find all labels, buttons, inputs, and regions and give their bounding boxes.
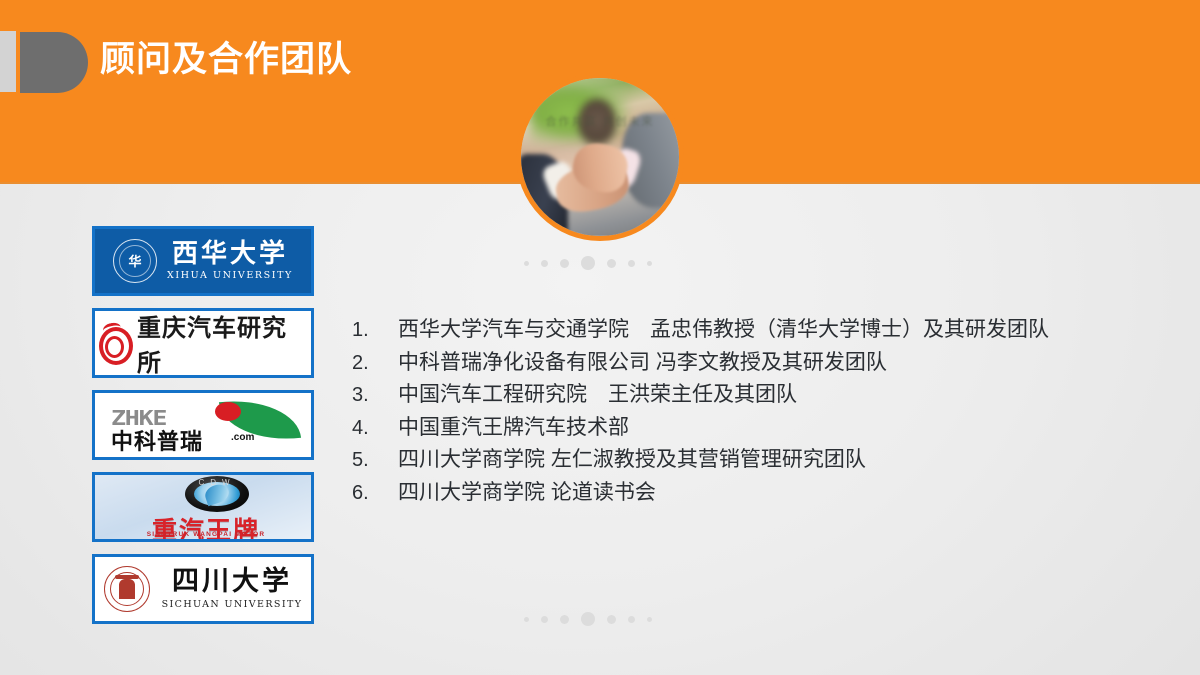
list-item-number: 5. bbox=[352, 445, 398, 477]
dot bbox=[647, 261, 652, 266]
zhke-red-dot-icon bbox=[215, 402, 241, 421]
logo-sinotruk-wangpai: CDW 重汽王牌 SINOTRUK WANGPAI MOTOR bbox=[92, 472, 314, 542]
photo-watermark-text: 合作共赢 共创未来 bbox=[537, 113, 663, 129]
list-item-number: 4. bbox=[352, 413, 398, 445]
sichuan-name-en: SICHUAN UNIVERSITY bbox=[162, 599, 303, 610]
logo-chongqing-automotive-research: 重庆汽车研究所 bbox=[92, 308, 314, 378]
sichuan-name-cn: 四川大学 bbox=[172, 568, 292, 596]
list-item: 4. 中国重汽王牌汽车技术部 bbox=[352, 412, 1142, 445]
partner-team-list: 1. 西华大学汽车与交通学院 孟忠伟教授（清华大学博士）及其研发团队 2. 中科… bbox=[352, 314, 1142, 509]
list-item-label: 中国汽车工程研究院 王洪荣主任及其团队 bbox=[398, 379, 1142, 411]
list-item-number: 2. bbox=[352, 348, 398, 380]
handshake-photo: 合作共赢 共创未来 bbox=[516, 73, 684, 241]
dot bbox=[541, 616, 548, 623]
logo-chongqing-inner: 重庆汽车研究所 bbox=[95, 311, 311, 375]
header-decoration-d-shape bbox=[20, 32, 88, 93]
slide-canvas: 顾问及合作团队 合作共赢 共创未来 bbox=[0, 0, 1200, 675]
list-item: 2. 中科普瑞净化设备有限公司 冯李文教授及其研发团队 bbox=[352, 347, 1142, 380]
list-item: 3. 中国汽车工程研究院 王洪荣主任及其团队 bbox=[352, 379, 1142, 412]
sinotruk-wordmark: CDW 重汽王牌 SINOTRUK WANGPAI MOTOR bbox=[95, 475, 314, 539]
list-item-label: 中科普瑞净化设备有限公司 冯李文教授及其研发团队 bbox=[398, 347, 1142, 379]
sinotruk-emblem-letters: CDW bbox=[190, 478, 244, 487]
sinotruk-name-en: SINOTRUK WANGPAI MOTOR bbox=[95, 531, 314, 538]
dot bbox=[581, 612, 595, 626]
logo-zhke-inner: ZHKE 中科普瑞 .com bbox=[95, 393, 311, 457]
dot bbox=[581, 256, 595, 270]
dot bbox=[607, 259, 616, 268]
xihua-name-cn: 西华大学 bbox=[172, 241, 288, 268]
sichuan-seal-icon bbox=[104, 566, 150, 612]
xihua-wordmark: 西华大学 XIHUA UNIVERSITY bbox=[167, 241, 293, 280]
xihua-name-en: XIHUA UNIVERSITY bbox=[167, 270, 293, 281]
zhke-name-cn: 中科普瑞 bbox=[111, 424, 203, 456]
dot bbox=[607, 615, 616, 624]
list-item: 1. 西华大学汽车与交通学院 孟忠伟教授（清华大学博士）及其研发团队 bbox=[352, 314, 1142, 347]
logo-sichuan-inner: 四川大学 SICHUAN UNIVERSITY bbox=[95, 557, 311, 621]
page-title: 顾问及合作团队 bbox=[100, 33, 352, 87]
chongqing-flame-icon bbox=[95, 323, 129, 363]
logo-xihua-university-inner: 华 西华大学 XIHUA UNIVERSITY bbox=[95, 229, 311, 293]
list-item-number: 3. bbox=[352, 380, 398, 412]
dot bbox=[541, 260, 548, 267]
handshake-photo-base: 合作共赢 共创未来 bbox=[521, 78, 679, 236]
dot bbox=[524, 617, 529, 622]
dot-separator-bottom bbox=[524, 612, 652, 626]
xihua-seal-glyph: 华 bbox=[129, 255, 142, 268]
dot bbox=[560, 259, 569, 268]
dot bbox=[628, 616, 635, 623]
dot bbox=[647, 617, 652, 622]
dot bbox=[628, 260, 635, 267]
list-item: 5. 四川大学商学院 左仁淑教授及其营销管理研究团队 bbox=[352, 444, 1142, 477]
logo-xihua-university: 华 西华大学 XIHUA UNIVERSITY bbox=[92, 226, 314, 296]
list-item-number: 6. bbox=[352, 478, 398, 510]
dot-separator-top bbox=[524, 256, 652, 270]
list-item-label: 四川大学商学院 论道读书会 bbox=[398, 477, 1142, 509]
list-item-label: 中国重汽王牌汽车技术部 bbox=[398, 412, 1142, 444]
sichuan-wordmark: 四川大学 SICHUAN UNIVERSITY bbox=[162, 568, 303, 609]
zhke-domain-suffix: .com bbox=[231, 432, 254, 443]
list-item-label: 西华大学汽车与交通学院 孟忠伟教授（清华大学博士）及其研发团队 bbox=[398, 314, 1142, 346]
chongqing-ring-inner bbox=[105, 336, 124, 358]
list-item: 6. 四川大学商学院 论道读书会 bbox=[352, 477, 1142, 510]
list-item-number: 1. bbox=[352, 315, 398, 347]
partner-logo-column: 华 西华大学 XIHUA UNIVERSITY 重庆汽车研究所 bbox=[92, 226, 314, 636]
header-decoration-rectangle bbox=[0, 31, 16, 92]
sichuan-gate-glyph bbox=[119, 579, 135, 599]
dot bbox=[560, 615, 569, 624]
chongqing-name-cn: 重庆汽车研究所 bbox=[137, 308, 311, 378]
zhke-wordmark: ZHKE 中科普瑞 .com bbox=[103, 396, 303, 454]
logo-sichuan-university: 四川大学 SICHUAN UNIVERSITY bbox=[92, 554, 314, 624]
dot bbox=[524, 261, 529, 266]
logo-zhke-puri: ZHKE 中科普瑞 .com bbox=[92, 390, 314, 460]
xihua-seal-icon: 华 bbox=[113, 239, 157, 283]
list-item-label: 四川大学商学院 左仁淑教授及其营销管理研究团队 bbox=[398, 444, 1142, 476]
